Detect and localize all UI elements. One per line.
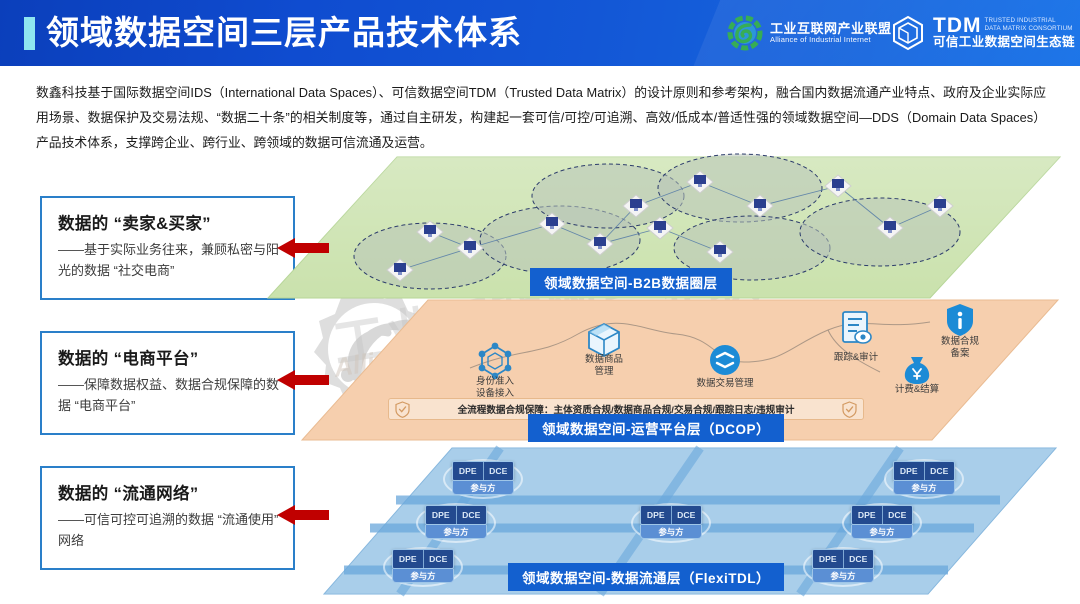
shield-check-icon-left bbox=[395, 401, 410, 418]
dpe-label: DPE bbox=[426, 506, 457, 524]
dce-label: DCE bbox=[844, 550, 874, 568]
dce-label: DCE bbox=[457, 506, 487, 524]
dpe-label: DPE bbox=[393, 550, 424, 568]
participant-chip: DPE DCE bbox=[851, 505, 913, 525]
dce-label: DCE bbox=[925, 462, 955, 480]
dpe-label: DPE bbox=[852, 506, 883, 524]
compliance-filing-line1: 数据合规 bbox=[928, 336, 992, 348]
participant-node[interactable]: DPE DCE 参与方 bbox=[392, 549, 454, 583]
dcop-label-compliance-filing: 数据合规 备案 bbox=[928, 336, 992, 360]
participant-node[interactable]: DPE DCE 参与方 bbox=[640, 505, 702, 539]
participant-caption: 参与方 bbox=[851, 525, 913, 539]
participant-chip: DPE DCE bbox=[425, 505, 487, 525]
dce-label: DCE bbox=[883, 506, 913, 524]
arrow-left-icon-2 bbox=[277, 370, 329, 390]
layer-label-dcop: 领域数据空间-运营平台层（DCOP） bbox=[528, 414, 784, 442]
arrow-shaft bbox=[293, 375, 329, 385]
dcop-label-billing-settlement: 计费&结算 bbox=[886, 384, 948, 396]
data-product-line2: 管理 bbox=[573, 366, 635, 378]
participant-caption: 参与方 bbox=[640, 525, 702, 539]
arrow-shaft bbox=[293, 510, 329, 520]
participant-caption: 参与方 bbox=[812, 569, 874, 583]
participant-node[interactable]: DPE DCE 参与方 bbox=[812, 549, 874, 583]
arrow-head bbox=[277, 370, 295, 390]
dpe-label: DPE bbox=[453, 462, 484, 480]
dce-label: DCE bbox=[484, 462, 514, 480]
arrow-head bbox=[277, 505, 295, 525]
participant-caption: 参与方 bbox=[893, 481, 955, 495]
data-product-line1: 数据商品 bbox=[573, 354, 635, 366]
arrow-left-icon-1 bbox=[277, 238, 329, 258]
identity-access-line1: 身份准入 bbox=[462, 376, 528, 388]
participant-caption: 参与方 bbox=[392, 569, 454, 583]
participant-caption: 参与方 bbox=[452, 481, 514, 495]
exchange-icon bbox=[709, 344, 741, 376]
arrow-head bbox=[277, 238, 295, 258]
dcop-label-data-product-mgmt: 数据商品 管理 bbox=[573, 354, 635, 378]
layer-label-b2b: 领域数据空间-B2B数据圈层 bbox=[530, 268, 732, 296]
participant-node[interactable]: DPE DCE 参与方 bbox=[452, 461, 514, 495]
participant-node[interactable]: DPE DCE 参与方 bbox=[851, 505, 913, 539]
compliance-filing-line2: 备案 bbox=[928, 348, 992, 360]
dpe-label: DPE bbox=[894, 462, 925, 480]
shield-check-icon-right bbox=[842, 401, 857, 418]
arrow-left-icon-3 bbox=[277, 505, 329, 525]
participant-chip: DPE DCE bbox=[452, 461, 514, 481]
dcop-label-trace-audit: 跟踪&审计 bbox=[826, 352, 886, 364]
shield-info-icon bbox=[944, 302, 976, 338]
dcop-label-data-trade-mgmt: 数据交易管理 bbox=[690, 378, 760, 390]
participant-caption: 参与方 bbox=[425, 525, 487, 539]
three-layer-diagram: 身份准入 设备接入 数据商品 管理 数据交易管理 bbox=[0, 0, 1080, 604]
participant-chip: DPE DCE bbox=[640, 505, 702, 525]
participant-chip: DPE DCE bbox=[392, 549, 454, 569]
dce-label: DCE bbox=[672, 506, 702, 524]
arrow-shaft bbox=[293, 243, 329, 253]
participant-chip: DPE DCE bbox=[812, 549, 874, 569]
slide-root: 领域数据空间三层产品技术体系 工业互联网产业联盟 Alliance of Ind… bbox=[0, 0, 1080, 604]
layer-label-flexi: 领域数据空间-数据流通层（FlexiTDL） bbox=[508, 563, 784, 591]
participant-chip: DPE DCE bbox=[893, 461, 955, 481]
participant-node[interactable]: DPE DCE 参与方 bbox=[425, 505, 487, 539]
dce-label: DCE bbox=[424, 550, 454, 568]
document-eye-icon bbox=[838, 308, 874, 348]
dpe-label: DPE bbox=[813, 550, 844, 568]
dcop-label-identity-access: 身份准入 设备接入 bbox=[462, 376, 528, 400]
dpe-label: DPE bbox=[641, 506, 672, 524]
participant-node[interactable]: DPE DCE 参与方 bbox=[893, 461, 955, 495]
